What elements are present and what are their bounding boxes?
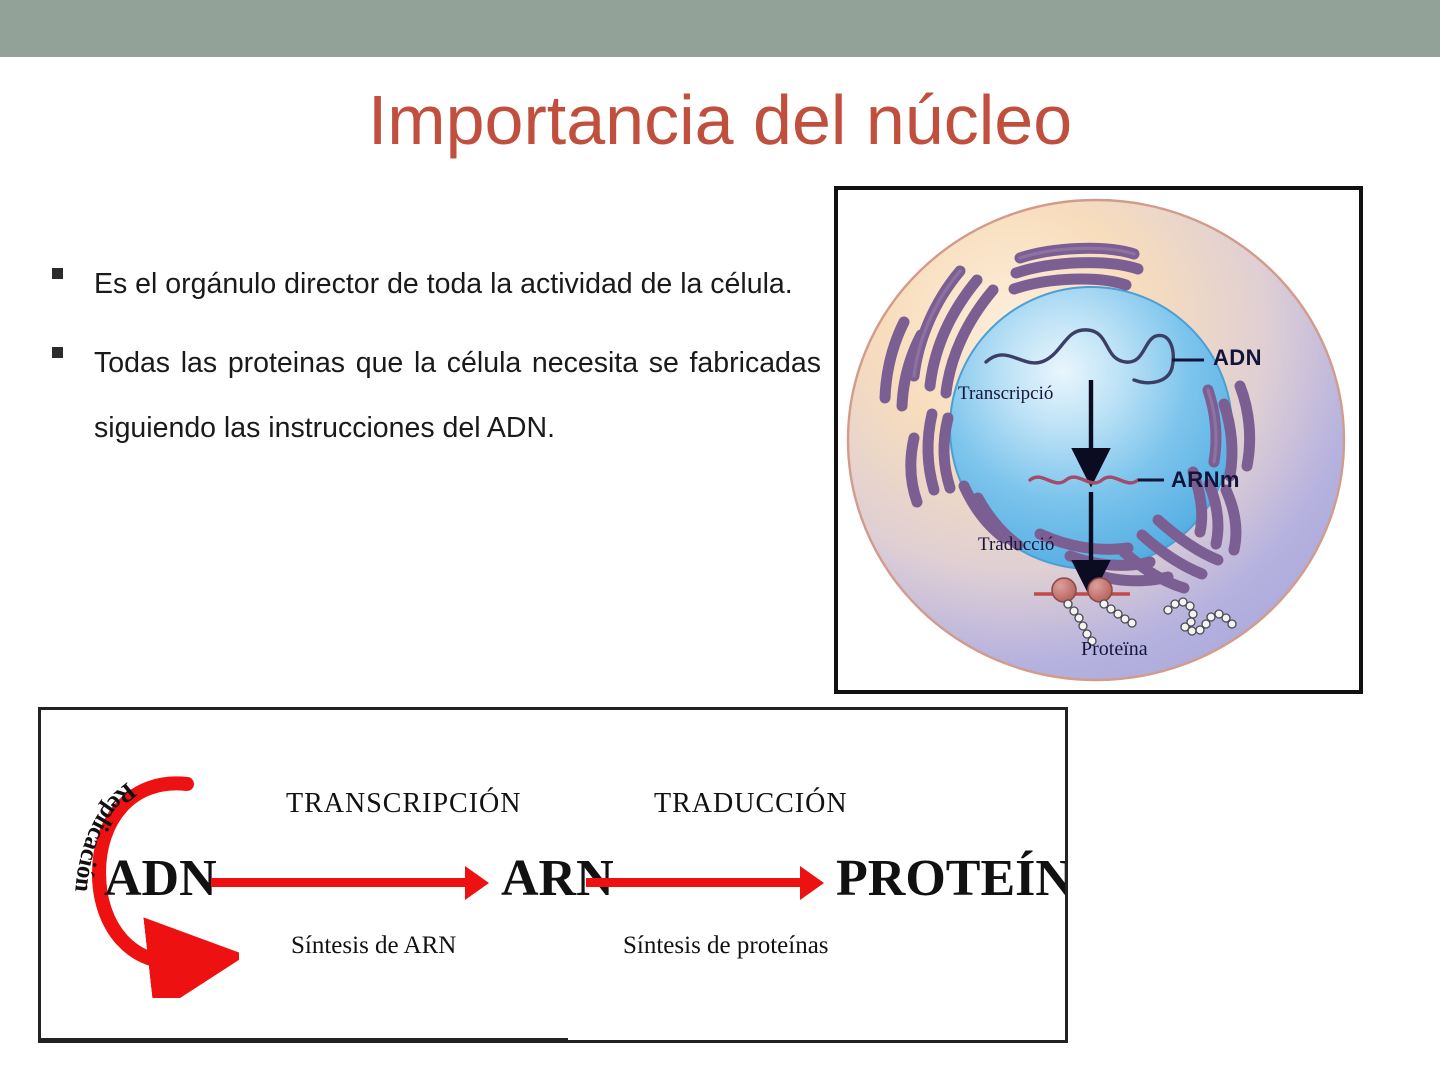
list-item: Todas las proteinas que la célula necesi… bbox=[46, 331, 821, 461]
bullet-text: Es el orgánulo director de toda la activ… bbox=[94, 252, 821, 317]
cell-label-transcription: Transcripció bbox=[958, 383, 1053, 405]
bullet-list: Es el orgánulo director de toda la activ… bbox=[46, 252, 821, 475]
dogma-caption-sintesis-proteinas: Síntesis de proteínas bbox=[623, 932, 829, 960]
cell-label-dna: ADN bbox=[1213, 345, 1262, 371]
dogma-inner-panel-edge bbox=[41, 1033, 568, 1040]
cell-figure-frame: ADN Transcripció ARNm Traducció Proteïna bbox=[834, 186, 1363, 694]
dogma-node-adn: ADN bbox=[104, 849, 217, 908]
dogma-arrow-translation bbox=[586, 878, 801, 887]
slide-canvas: Importancia del núcleo Es el orgánulo di… bbox=[0, 0, 1440, 1080]
dogma-step-transcripcion: TRANSCRIPCIÓN bbox=[286, 788, 521, 820]
square-bullet-icon bbox=[52, 347, 63, 358]
square-bullet-icon bbox=[52, 268, 63, 279]
dogma-step-traduccion: TRADUCCIÓN bbox=[654, 788, 848, 820]
bullet-text: Todas las proteinas que la célula necesi… bbox=[94, 331, 821, 461]
dogma-caption-sintesis-arn: Síntesis de ARN bbox=[291, 932, 456, 960]
cell-label-mrna: ARNm bbox=[1171, 467, 1240, 493]
cell-diagram-graphic bbox=[838, 190, 1359, 690]
dogma-arrow-transcription bbox=[211, 878, 466, 887]
cell-label-translation: Traducció bbox=[978, 534, 1054, 556]
dogma-figure-frame: Replicación ADN ARN PROTEÍNAS TRANSCRIPC… bbox=[38, 707, 1068, 1043]
dogma-node-proteinas: PROTEÍNAS bbox=[836, 849, 1068, 908]
cell-label-protein: Proteïna bbox=[1081, 638, 1148, 661]
page-title: Importancia del núcleo bbox=[0, 78, 1440, 162]
list-item: Es el orgánulo director de toda la activ… bbox=[46, 252, 821, 317]
slide-header-band bbox=[0, 0, 1440, 57]
dogma-diagram-graphic: Replicación ADN ARN PROTEÍNAS TRANSCRIPC… bbox=[41, 710, 1065, 1040]
